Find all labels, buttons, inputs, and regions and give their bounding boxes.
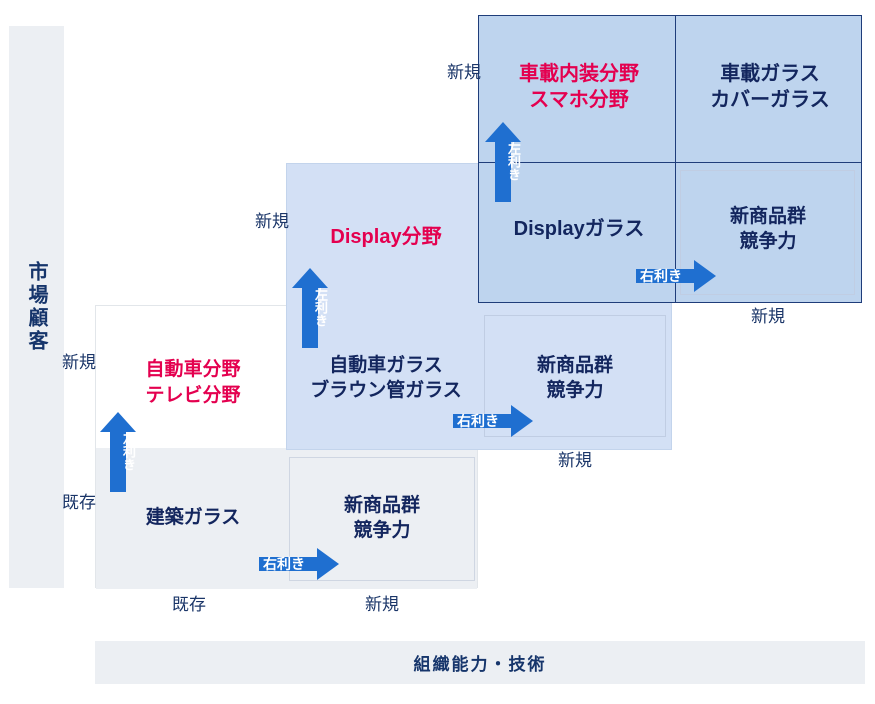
diagram-canvas: 市場顧客 組織能力・技術 自動車分野 テレビ分野 建築ガラス 新商品群 競争力 … <box>0 0 875 704</box>
panel-top-horizontal-divider <box>479 162 861 163</box>
x-tick-top-new: 新規 <box>713 306 823 327</box>
y-tick-low-exist: 既存 <box>62 492 96 513</box>
arrow-up-middle: 左利き <box>290 266 330 350</box>
arrow-up-top-label: 左利き <box>483 142 523 181</box>
y-tick-top-new: 新規 <box>447 62 481 83</box>
arrow-right-middle: 右利き <box>451 403 535 439</box>
x-tick-mid-new: 新規 <box>520 450 630 471</box>
y-axis-title: 市場顧客 <box>9 26 64 588</box>
y-tick-mid-new: 新規 <box>255 211 289 232</box>
cell-vehicle-interior-smartphone-domain: 車載内装分野 スマホ分野 <box>485 42 673 132</box>
arrow-right-top: 右利き <box>634 258 718 294</box>
arrow-right-top-label: 右利き <box>634 258 702 294</box>
y-tick-low-new: 新規 <box>62 352 96 373</box>
arrow-up-bottom: 左利き <box>98 410 138 494</box>
arrow-right-bottom: 右利き <box>257 546 341 582</box>
x-axis-title: 組織能力・技術 <box>414 650 547 675</box>
x-tick-bottom-new: 新規 <box>327 594 437 615</box>
x-axis-rail: 組織能力・技術 <box>95 641 865 684</box>
arrow-right-middle-label: 右利き <box>451 403 519 439</box>
arrow-up-top: 左利き <box>483 120 523 204</box>
y-axis-rail: 市場顧客 <box>9 26 64 588</box>
cell-vehicle-glass-cover-glass: 車載ガラス カバーガラス <box>678 42 862 132</box>
arrow-up-bottom-label: 左利き <box>98 432 138 471</box>
arrow-right-bottom-label: 右利き <box>257 546 325 582</box>
x-tick-bottom-exist: 既存 <box>134 594 244 615</box>
arrow-up-middle-label: 左利き <box>290 288 330 327</box>
